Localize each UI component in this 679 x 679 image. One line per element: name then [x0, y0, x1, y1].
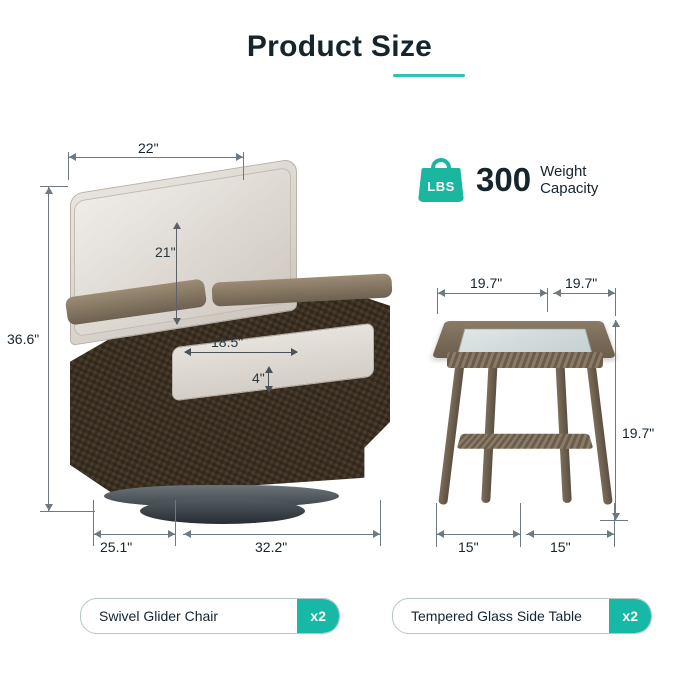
chair-dim-arrow-up — [45, 187, 53, 194]
chair-dim-arrow-251-left — [94, 530, 101, 538]
table-dim-line-base-left — [436, 534, 520, 535]
table-dim-label-base-left: 15" — [458, 539, 479, 555]
table-dim-line-top-right — [553, 293, 615, 294]
table-tempered-glass-top — [457, 329, 592, 355]
table-dim-tick-topleft-b — [547, 288, 548, 312]
page-title: Product Size — [0, 30, 679, 64]
legend-item-table-label: Tempered Glass Side Table — [393, 608, 596, 624]
table-dim-line-base-right — [526, 534, 614, 535]
product-size-infographic: Product Size LBS 300 Weight Capacity 22"… — [0, 0, 679, 679]
table-dim-arrow-baseright-l — [527, 530, 534, 538]
chair-dim-line-overall-depth — [183, 534, 380, 535]
table-dim-label-base-right: 15" — [550, 539, 571, 555]
chair-dim-tick-bottom — [40, 511, 95, 512]
chair-swivel-base — [140, 498, 305, 524]
chair-dim-label-height: 36.6" — [5, 328, 41, 350]
chair-dim-arrow-322-left — [184, 530, 191, 538]
table-dim-label-top-left: 19.7" — [466, 275, 506, 291]
lbs-weight-icon: LBS — [418, 158, 464, 202]
weight-capacity-value: 300 — [476, 161, 531, 199]
table-dim-arrow-topright-l — [554, 289, 561, 297]
chair-dim-label-cushion-thickness: 4" — [252, 370, 265, 386]
title-underline-accent — [393, 74, 465, 77]
table-dim-label-top-right: 19.7" — [561, 275, 601, 291]
chair-dim-label-seat-width: 25.1" — [100, 539, 132, 555]
chair-dim-label-seat-depth: 18.5" — [211, 334, 243, 350]
chair-dim-arrow-seat-left — [184, 348, 191, 356]
chair-dim-label-back-width: 22" — [133, 140, 164, 156]
table-dim-arrow-baseleft-r — [513, 530, 520, 538]
chair-dim-tick-322-right — [380, 500, 381, 546]
legend-item-table-qty: x2 — [609, 599, 651, 633]
legend-item-table[interactable]: Tempered Glass Side Table x2 — [392, 598, 652, 634]
chair-dim-arrow-thick-down — [265, 386, 273, 393]
table-dim-arrow-height-up — [612, 320, 620, 327]
chair-dim-arrow-back-up — [173, 222, 181, 229]
table-dim-line-top-left — [437, 293, 547, 294]
chair-dim-tick-right — [243, 152, 244, 180]
table-dim-arrow-baseleft-l — [437, 530, 444, 538]
chair-dim-arrow-thick-up — [265, 366, 273, 373]
chair-dim-arrow-seat-right — [291, 348, 298, 356]
table-leg-left — [438, 360, 465, 505]
chair-dim-tick-251-right — [175, 500, 176, 546]
side-table-illustration — [425, 300, 625, 530]
table-dim-arrow-baseright-r — [607, 530, 614, 538]
chair-dim-line-seat-width — [93, 534, 175, 535]
legend-item-chair[interactable]: Swivel Glider Chair x2 — [80, 598, 340, 634]
table-dim-line-height — [615, 320, 616, 520]
table-dim-tick-baseright — [614, 503, 615, 547]
table-lower-shelf — [457, 434, 594, 449]
table-leg-back-right — [555, 358, 572, 503]
chair-dim-line-back-width — [68, 157, 243, 158]
table-dim-arrow-topleft-l — [438, 289, 445, 297]
chair-dim-line-seat-depth — [185, 352, 297, 353]
chair-dim-arrow-down — [45, 504, 53, 511]
chair-dim-arrow-right — [236, 153, 243, 161]
table-dim-arrow-topright-r — [608, 289, 615, 297]
table-dim-tick-baseleft-b — [520, 503, 521, 547]
table-dim-tick-topright — [615, 288, 616, 316]
chair-dim-arrow-left — [69, 153, 76, 161]
legend-item-chair-qty: x2 — [297, 599, 339, 633]
legend-item-chair-label: Swivel Glider Chair — [81, 608, 232, 624]
lbs-icon-label: LBS — [427, 179, 455, 194]
chair-dim-arrow-251-right — [168, 530, 175, 538]
chair-dim-label-overall-depth: 32.2" — [255, 539, 287, 555]
weight-capacity-caption: Weight Capacity — [540, 163, 610, 197]
chair-dim-line-back-cushion — [176, 224, 177, 324]
table-dim-tick-baseleft-a — [436, 503, 437, 547]
chair-dim-arrow-back-down — [173, 318, 181, 325]
chair-dim-label-back-cushion: 21" — [155, 244, 176, 260]
table-leg-back-left — [481, 358, 498, 503]
chair-dim-tick-251-left — [93, 500, 94, 546]
chair-dim-arrow-322-right — [373, 530, 380, 538]
table-dim-label-height: 19.7" — [622, 423, 654, 443]
table-dim-arrow-topleft-r — [540, 289, 547, 297]
chair-dim-line-height — [48, 186, 49, 511]
table-leg-right — [586, 360, 613, 505]
weight-capacity-block: LBS 300 Weight Capacity — [418, 158, 610, 202]
table-apron — [447, 352, 603, 368]
lbs-icon-body: LBS — [418, 168, 464, 202]
